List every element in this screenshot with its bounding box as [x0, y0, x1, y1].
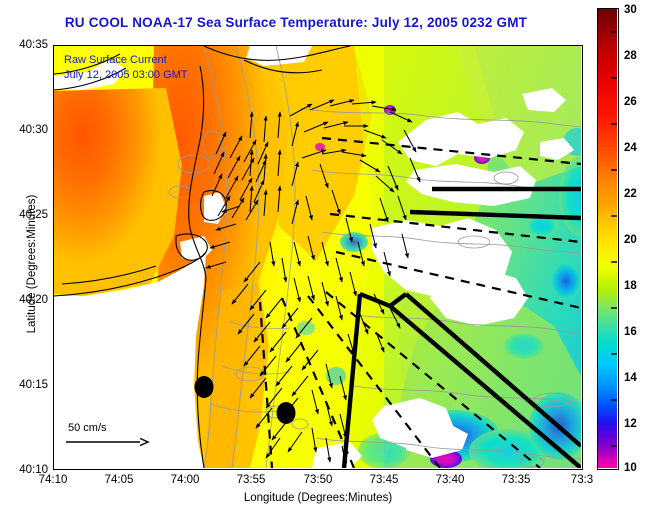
- ytick-40-30: 40:30: [2, 124, 48, 136]
- map-canvas: [54, 46, 581, 468]
- ytick-40-15: 40:15: [2, 379, 48, 391]
- cbtick-20: 20: [624, 234, 637, 246]
- cbtick-16: 16: [624, 326, 637, 338]
- xtick-73-50: 73:50: [288, 474, 348, 486]
- figure-title: RU COOL NOAA-17 Sea Surface Temperature:…: [0, 15, 592, 30]
- ytick-40-10: 40:10: [2, 464, 48, 476]
- xtick-73-40: 73:40: [420, 474, 480, 486]
- sst-map-figure: RU COOL NOAA-17 Sea Surface Temperature:…: [0, 0, 651, 518]
- arrow-right-icon: [64, 436, 150, 448]
- y-axis-label: Latitude (Degrees:Minutes): [26, 144, 38, 384]
- xtick-73-55: 73:55: [221, 474, 281, 486]
- map-plot-area[interactable]: Raw Surface Current July 12, 2005 03:00 …: [53, 45, 583, 470]
- xtick-74-00: 74:00: [155, 474, 215, 486]
- ytick-40-20: 40:20: [2, 294, 48, 306]
- cbtick-18: 18: [624, 280, 637, 292]
- cbtick-30: 30: [624, 4, 637, 16]
- velocity-scale-legend: 50 cm/s: [64, 422, 150, 451]
- x-axis-label: Longitude (Degrees:Minutes): [53, 492, 583, 504]
- annotation-line-1: Raw Surface Current: [64, 53, 188, 68]
- cbtick-28: 28: [624, 50, 637, 62]
- velocity-scale-label: 50 cm/s: [64, 422, 150, 434]
- ytick-40-35: 40:35: [2, 39, 48, 51]
- cbtick-10: 10: [624, 462, 637, 474]
- colorbar-gradient: [598, 9, 617, 468]
- cbtick-24: 24: [624, 142, 637, 154]
- cbtick-14: 14: [624, 372, 637, 384]
- annotation-line-2: July 12, 2005 03:00 GMT: [64, 68, 188, 83]
- cbtick-26: 26: [624, 96, 637, 108]
- cbtick-22: 22: [624, 188, 637, 200]
- ytick-40-25: 40:25: [2, 209, 48, 221]
- plot-annotation: Raw Surface Current July 12, 2005 03:00 …: [64, 53, 188, 83]
- temperature-colorbar: [597, 8, 619, 470]
- xtick-73-30: 73:3: [552, 474, 612, 486]
- xtick-73-45: 73:45: [354, 474, 414, 486]
- xtick-73-35: 73:35: [486, 474, 546, 486]
- xtick-74-10: 74:10: [23, 474, 83, 486]
- cbtick-12: 12: [624, 418, 637, 430]
- xtick-74-05: 74:05: [89, 474, 149, 486]
